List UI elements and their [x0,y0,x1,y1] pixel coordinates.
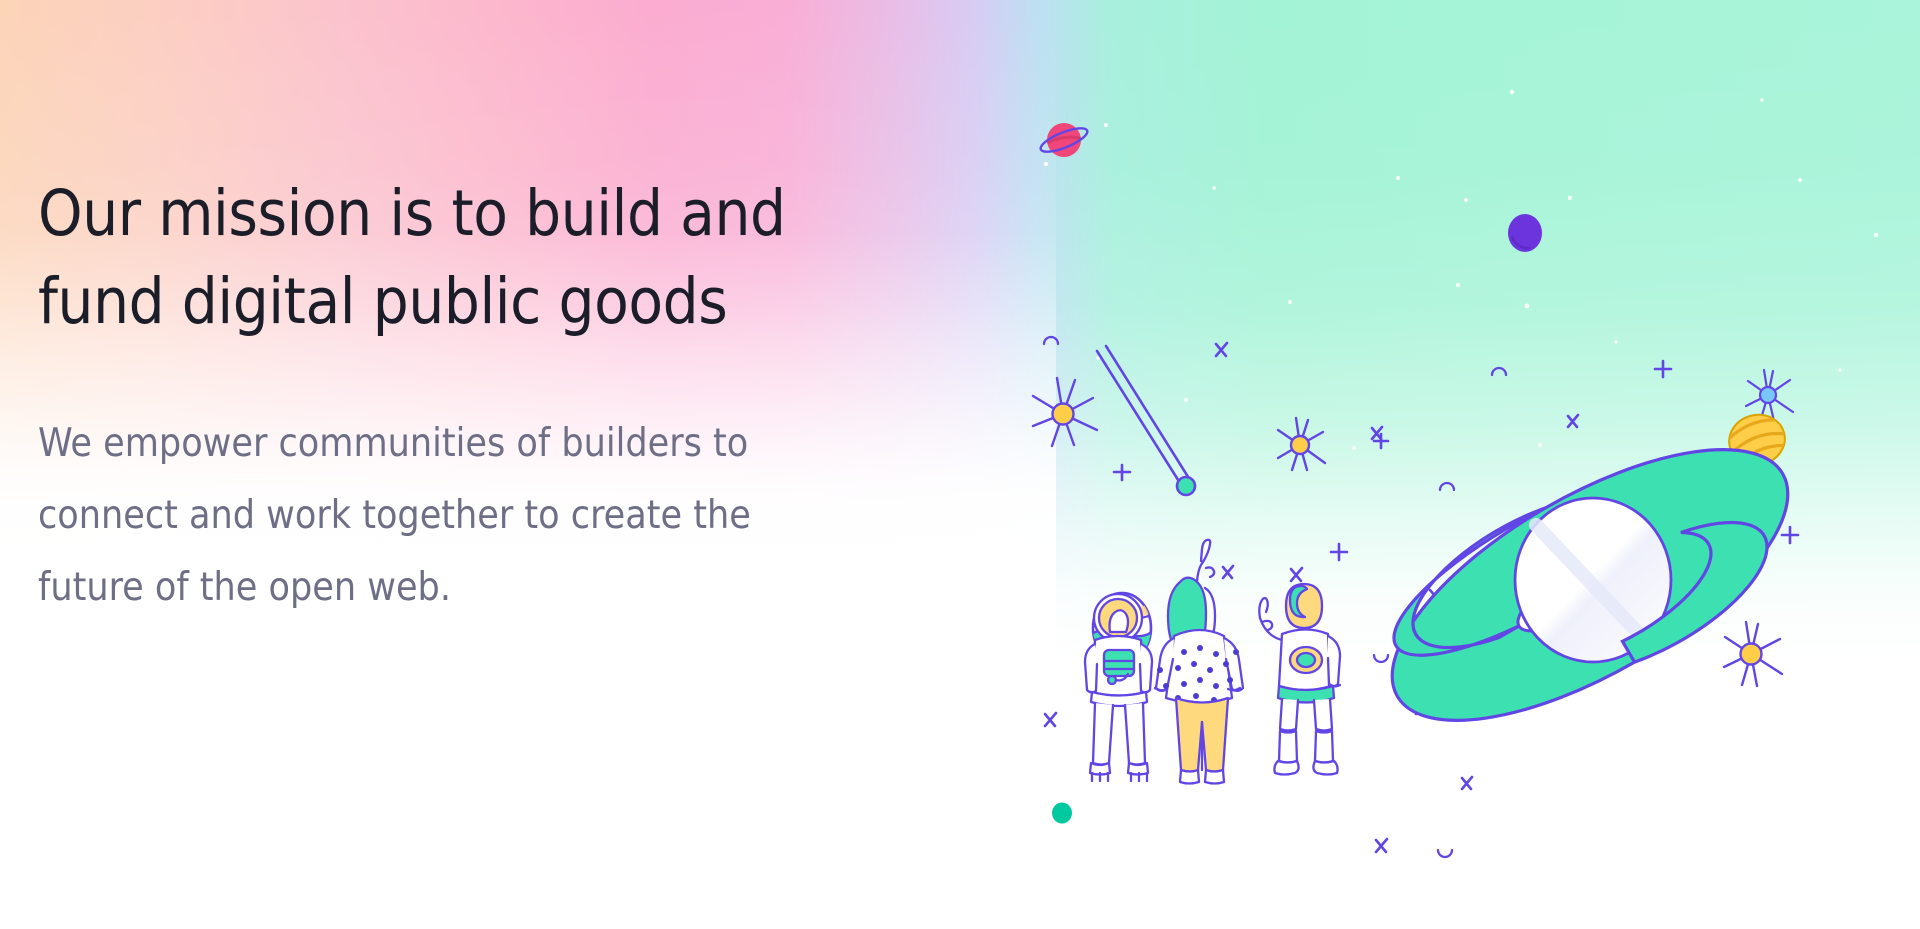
astronaut-group [1085,540,1340,784]
yellow-starburst-left-icon [1033,378,1097,446]
hero-description: We empower communities of builders to co… [38,346,838,624]
astronaut-right [1259,584,1340,775]
hero-copy-block: Our mission is to build and fund digital… [38,170,868,624]
mission-hero-section: Our mission is to build and fund digital… [0,0,1920,929]
teal-dot-icon [1052,803,1072,824]
yellow-starburst-center-icon [1278,418,1325,470]
saturn-ringed-planet-icon [1353,397,1827,774]
pink-ringed-planet-icon [1038,123,1090,157]
space-illustration [1000,40,1920,870]
blue-starburst-icon [1746,370,1793,422]
yellow-starburst-right-icon [1724,622,1782,686]
astronaut-left [1085,594,1152,781]
page-title: Our mission is to build and fund digital… [38,170,868,346]
purple-planet-dot-icon [1508,214,1542,252]
space-illustration-svg [1000,40,1920,870]
comet-icon [1097,346,1195,495]
